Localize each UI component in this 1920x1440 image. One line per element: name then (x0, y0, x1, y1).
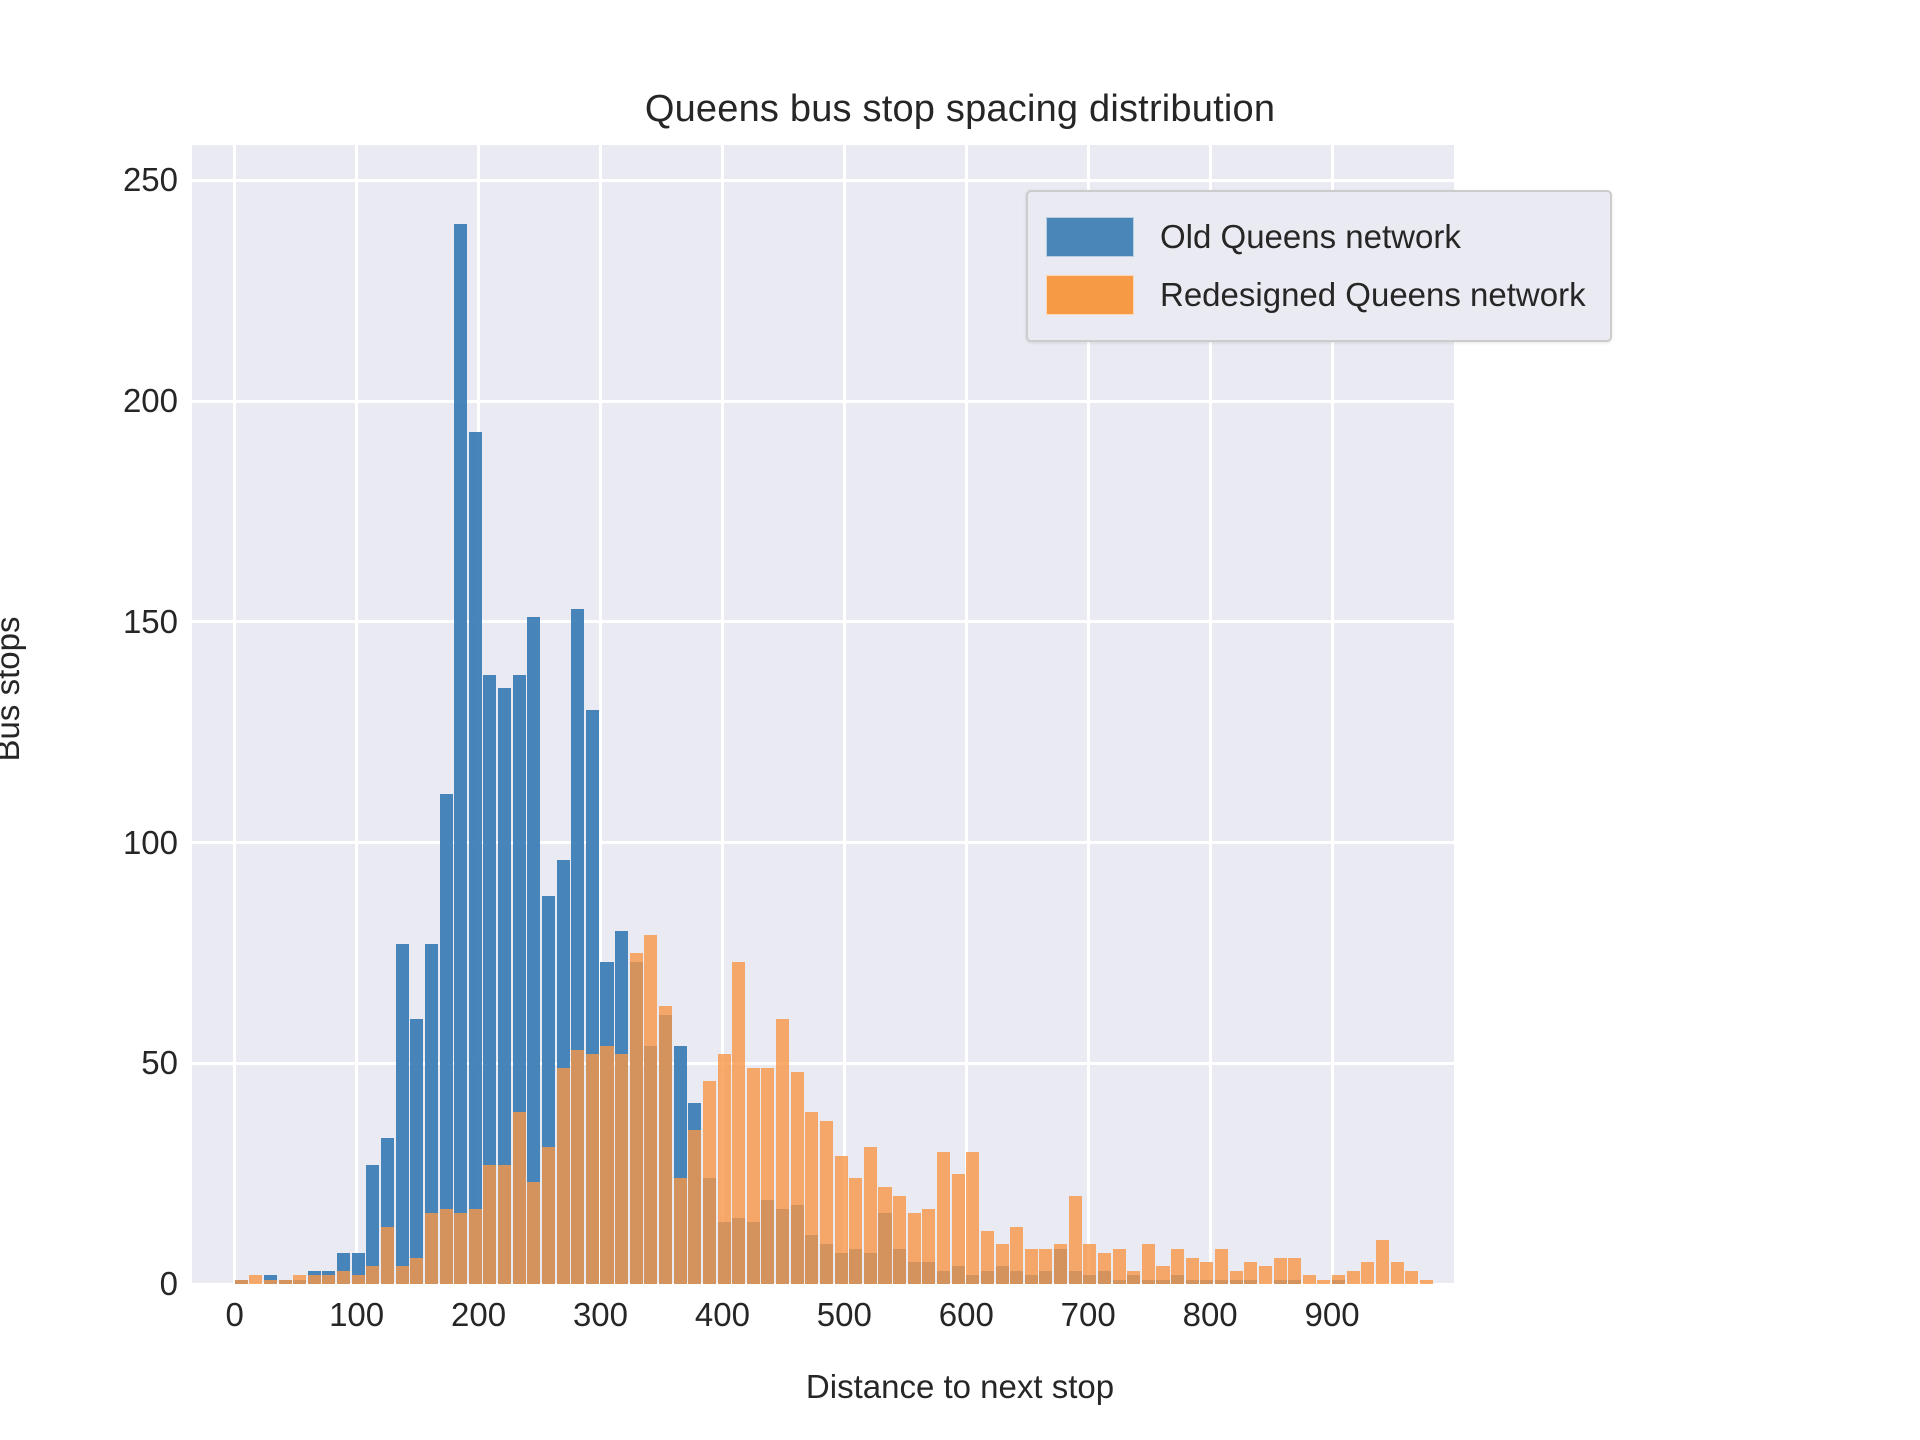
bar-redesigned-queens (835, 1156, 848, 1284)
bar-old-queens (396, 944, 409, 1284)
bar-redesigned-queens (1039, 1249, 1052, 1284)
bar-redesigned-queens (1010, 1227, 1023, 1284)
y-tick-label: 250 (18, 161, 178, 199)
bar-redesigned-queens (600, 1046, 613, 1284)
bar-redesigned-queens (1156, 1266, 1169, 1284)
chart-figure: Queens bus stop spacing distribution 050… (0, 0, 1920, 1440)
bar-redesigned-queens (249, 1275, 262, 1284)
bar-redesigned-queens (747, 1068, 760, 1284)
chart-legend: Old Queens network Redesigned Queens net… (1026, 190, 1612, 342)
bar-redesigned-queens (615, 1054, 628, 1284)
bar-redesigned-queens (864, 1147, 877, 1284)
bar-redesigned-queens (542, 1147, 555, 1284)
y-tick-label: 100 (18, 824, 178, 862)
bar-redesigned-queens (1054, 1244, 1067, 1284)
bar-redesigned-queens (440, 1209, 453, 1284)
y-tick-label: 150 (18, 603, 178, 641)
bar-redesigned-queens (1142, 1244, 1155, 1284)
bar-redesigned-queens (1244, 1262, 1257, 1284)
bar-redesigned-queens (1420, 1280, 1433, 1284)
bar-redesigned-queens (718, 1054, 731, 1284)
bar-redesigned-queens (922, 1209, 935, 1284)
bar-redesigned-queens (308, 1275, 321, 1284)
bar-redesigned-queens (381, 1227, 394, 1284)
bar-redesigned-queens (644, 935, 657, 1284)
page-title: Queens bus stop spacing distribution (0, 88, 1920, 131)
bar-redesigned-queens (586, 1054, 599, 1284)
y-tick-label: 200 (18, 382, 178, 420)
bar-redesigned-queens (630, 953, 643, 1284)
bar-redesigned-queens (396, 1266, 409, 1284)
bar-redesigned-queens (893, 1196, 906, 1284)
bar-redesigned-queens (513, 1112, 526, 1284)
bar-redesigned-queens (849, 1178, 862, 1284)
bar-redesigned-queens (1215, 1249, 1228, 1284)
bar-redesigned-queens (1347, 1271, 1360, 1284)
bar-redesigned-queens (293, 1275, 306, 1284)
bar-redesigned-queens (352, 1275, 365, 1284)
bar-redesigned-queens (674, 1178, 687, 1284)
bar-old-queens (410, 1019, 423, 1284)
bar-redesigned-queens (952, 1174, 965, 1284)
bar-redesigned-queens (761, 1068, 774, 1284)
bar-redesigned-queens (981, 1231, 994, 1284)
legend-swatch-old-icon (1046, 217, 1134, 257)
bar-redesigned-queens (996, 1244, 1009, 1284)
bar-redesigned-queens (659, 1006, 672, 1284)
bar-redesigned-queens (1200, 1262, 1213, 1284)
bar-redesigned-queens (732, 962, 745, 1284)
bar-redesigned-queens (337, 1271, 350, 1284)
legend-item-redesigned[interactable]: Redesigned Queens network (1046, 266, 1586, 324)
legend-label-old: Old Queens network (1160, 218, 1461, 256)
bar-redesigned-queens (1376, 1240, 1389, 1284)
bar-redesigned-queens (1083, 1244, 1096, 1284)
bar-redesigned-queens (1391, 1262, 1404, 1284)
bar-redesigned-queens (878, 1187, 891, 1284)
bar-redesigned-queens (279, 1280, 292, 1284)
bar-redesigned-queens (1274, 1258, 1287, 1284)
legend-item-old[interactable]: Old Queens network (1046, 208, 1586, 266)
bar-redesigned-queens (1098, 1253, 1111, 1284)
bar-old-queens (454, 224, 467, 1284)
legend-swatch-redesigned-icon (1046, 275, 1134, 315)
bar-redesigned-queens (1317, 1280, 1330, 1284)
x-axis-label: Distance to next stop (0, 1368, 1920, 1406)
bar-redesigned-queens (1171, 1249, 1184, 1284)
bar-redesigned-queens (805, 1112, 818, 1284)
bar-redesigned-queens (1288, 1258, 1301, 1284)
bar-redesigned-queens (527, 1182, 540, 1284)
bar-redesigned-queens (1332, 1275, 1345, 1284)
bar-redesigned-queens (776, 1019, 789, 1284)
legend-label-redesigned: Redesigned Queens network (1160, 276, 1586, 314)
bar-redesigned-queens (1405, 1271, 1418, 1284)
bar-redesigned-queens (937, 1152, 950, 1284)
bar-redesigned-queens (908, 1213, 921, 1284)
bar-redesigned-queens (498, 1165, 511, 1284)
bar-redesigned-queens (410, 1258, 423, 1284)
bar-redesigned-queens (322, 1275, 335, 1284)
bar-redesigned-queens (966, 1152, 979, 1284)
bar-redesigned-queens (820, 1121, 833, 1284)
bar-redesigned-queens (688, 1130, 701, 1285)
y-axis-label: Bus stops (0, 409, 27, 969)
x-tick-label: 900 (1252, 1296, 1412, 1334)
bar-redesigned-queens (1303, 1275, 1316, 1284)
bar-redesigned-queens (366, 1266, 379, 1284)
bar-redesigned-queens (264, 1280, 277, 1284)
bar-redesigned-queens (454, 1213, 467, 1284)
bar-redesigned-queens (1113, 1249, 1126, 1284)
bar-redesigned-queens (557, 1068, 570, 1284)
bar-redesigned-queens (1230, 1271, 1243, 1284)
bar-redesigned-queens (1127, 1271, 1140, 1284)
bar-redesigned-queens (483, 1165, 496, 1284)
bar-redesigned-queens (791, 1072, 804, 1284)
bar-redesigned-queens (1259, 1266, 1272, 1284)
bar-redesigned-queens (235, 1280, 248, 1284)
bar-redesigned-queens (703, 1081, 716, 1284)
bar-redesigned-queens (469, 1209, 482, 1284)
bar-redesigned-queens (425, 1213, 438, 1284)
y-tick-label: 50 (18, 1044, 178, 1082)
bar-redesigned-queens (1069, 1196, 1082, 1284)
bar-redesigned-queens (1186, 1258, 1199, 1284)
bar-redesigned-queens (571, 1050, 584, 1284)
bar-redesigned-queens (1361, 1262, 1374, 1284)
bar-redesigned-queens (1025, 1249, 1038, 1284)
bar-old-queens (469, 432, 482, 1284)
